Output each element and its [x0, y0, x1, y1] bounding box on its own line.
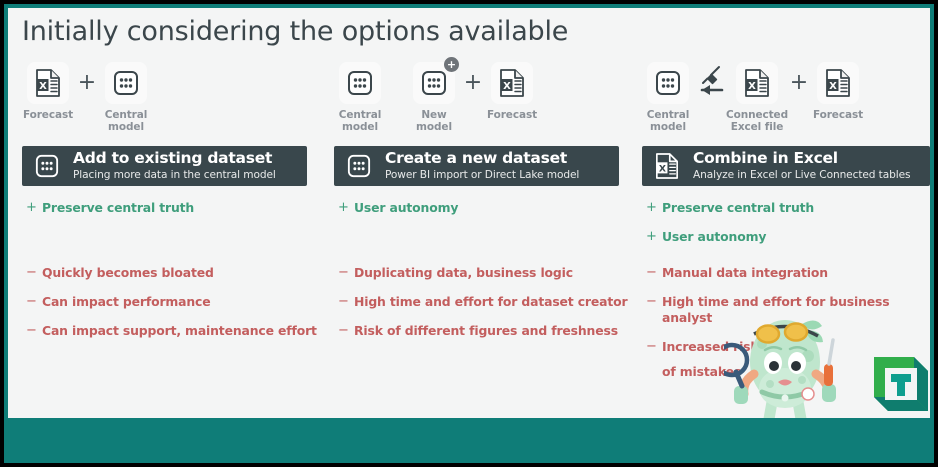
svg-text:X: X [659, 164, 666, 175]
icon-label-new-model: New model [416, 109, 452, 133]
arrow-left-icon [702, 85, 722, 95]
icon-label-forecast: Forecast [487, 109, 537, 121]
con-text: High time and effort for dataset creator [354, 294, 627, 310]
con-text: Duplicating data, business logic [354, 265, 573, 281]
list-item: + Preserve central truth [646, 200, 930, 216]
plus-sign-icon: + [338, 200, 354, 216]
con-text: Manual data integration [662, 265, 828, 281]
option-header-text: Add to existing dataset Placing more dat… [73, 150, 276, 182]
column-2-icon-row: Central model + New [334, 62, 538, 133]
icon-cell-connected-excel: X Connected Excel file [728, 62, 786, 133]
brand-logo [870, 353, 930, 418]
minus-sign-icon: − [26, 294, 42, 310]
column-3-icon-row: Central model [642, 62, 864, 133]
dataset-model-icon [339, 62, 381, 104]
excel-file-icon: X [27, 62, 69, 104]
option-title: Create a new dataset [385, 150, 579, 167]
option-header-create-new-dataset[interactable]: Create a new dataset Power BI import or … [334, 146, 619, 186]
minus-sign-icon: − [338, 294, 354, 310]
list-item: + User autonomy [646, 229, 930, 245]
dataset-model-icon [647, 62, 689, 104]
svg-text:X: X [503, 81, 511, 92]
icon-cell-new-model: + New model [408, 62, 460, 133]
list-item: − High time and effort for dataset creat… [338, 294, 633, 310]
svg-text:X: X [829, 81, 837, 92]
mascot-illustration [724, 310, 854, 418]
dataset-model-icon [105, 62, 147, 104]
icon-label-central-model: Central model [647, 109, 690, 133]
central-model-line1: Central [647, 109, 690, 121]
icon-label-central-model: Central model [339, 109, 382, 133]
icon-label-forecast: Forecast [23, 109, 73, 121]
minus-sign-icon: − [338, 323, 354, 339]
central-model-line1: Central [339, 109, 382, 121]
pro-text: Preserve central truth [42, 200, 194, 216]
pro-text: User autonomy [662, 229, 766, 245]
list-item: + Preserve central truth [26, 200, 316, 216]
icon-cell-forecast: X Forecast [22, 62, 74, 121]
cons-list-column-2: − Duplicating data, business logic − Hig… [338, 265, 633, 352]
minus-sign-icon: − [646, 294, 662, 310]
excel-file-icon: X [736, 62, 778, 104]
central-model-line2: model [342, 121, 378, 133]
icon-label-connected-excel: Connected Excel file [726, 109, 788, 133]
con-text: Risk of different figures and freshness [354, 323, 618, 339]
option-header-text: Create a new dataset Power BI import or … [385, 150, 579, 182]
option-subtitle: Placing more data in the central model [73, 169, 276, 182]
minus-sign-icon: − [26, 323, 42, 339]
connected-line1: Connected [726, 109, 788, 121]
con-text: Can impact performance [42, 294, 211, 310]
slide-frame: Initially considering the options availa… [0, 0, 938, 467]
svg-text:X: X [39, 81, 47, 92]
connected-line2: Excel file [731, 121, 783, 133]
page-title: Initially considering the options availa… [22, 16, 568, 47]
svg-text:X: X [748, 81, 756, 92]
pros-list-column-2: + User autonomy [338, 200, 628, 229]
new-model-line2: model [416, 121, 452, 133]
list-item: − Can impact support, maintenance effort [26, 323, 321, 339]
plus-sign-icon: + [646, 200, 662, 216]
excel-file-icon: X [817, 62, 859, 104]
option-header-combine-in-excel[interactable]: X Combine in Excel Analyze in Excel or L… [642, 146, 930, 186]
dataset-model-icon [32, 151, 62, 181]
icon-label-forecast: Forecast [813, 109, 863, 121]
option-title: Add to existing dataset [73, 150, 276, 167]
list-item: − Duplicating data, business logic [338, 265, 633, 281]
central-model-line2: model [108, 121, 144, 133]
list-item: − Can impact performance [26, 294, 321, 310]
list-item: + User autonomy [338, 200, 628, 216]
list-item: − Quickly becomes bloated [26, 265, 321, 281]
con-text: Quickly becomes bloated [42, 265, 214, 281]
plus-separator-icon: + [460, 62, 486, 104]
pro-text: Preserve central truth [662, 200, 814, 216]
column-1-icon-row: X Forecast + [22, 62, 152, 133]
option-title: Combine in Excel [693, 150, 910, 167]
icon-label-central-model: Central model [105, 109, 148, 133]
minus-sign-icon: − [338, 265, 354, 281]
plus-separator-icon: + [786, 62, 812, 104]
plus-separator-icon: + [74, 62, 100, 104]
icon-cell-central-model-2: Central model [334, 62, 386, 133]
live-connection-icon [694, 62, 728, 104]
list-item: − Manual data integration [646, 265, 930, 281]
dataset-model-icon [344, 151, 374, 181]
icon-cell-central-model: Central model [100, 62, 152, 133]
slide-canvas: Initially considering the options availa… [8, 8, 930, 418]
pros-list-column-3: + Preserve central truth + User autonomy [646, 200, 930, 258]
option-header-add-to-existing-dataset[interactable]: Add to existing dataset Placing more dat… [22, 146, 307, 186]
central-model-line2: model [650, 121, 686, 133]
option-subtitle: Power BI import or Direct Lake model [385, 169, 579, 182]
option-header-text: Combine in Excel Analyze in Excel or Liv… [693, 150, 910, 182]
cons-list-column-1: − Quickly becomes bloated − Can impact p… [26, 265, 321, 352]
minus-sign-icon: − [646, 339, 662, 355]
minus-sign-icon: − [26, 265, 42, 281]
icon-cell-forecast-3: X Forecast [812, 62, 864, 121]
icon-cell-forecast-2: X Forecast [486, 62, 538, 121]
add-badge-icon: + [444, 57, 459, 72]
dataset-model-new-icon: + [413, 62, 455, 104]
plus-sign-icon: + [646, 229, 662, 245]
excel-file-icon: X [491, 62, 533, 104]
excel-file-icon: X [652, 151, 682, 181]
central-model-line1: Central [105, 109, 148, 121]
new-model-line1: New [421, 109, 446, 121]
icon-cell-central-model-3: Central model [642, 62, 694, 133]
pros-list-column-1: + Preserve central truth [26, 200, 316, 229]
plus-sign-icon: + [26, 200, 42, 216]
list-item: − Risk of different figures and freshnes… [338, 323, 633, 339]
con-text: Can impact support, maintenance effort [42, 323, 317, 339]
option-subtitle: Analyze in Excel or Live Connected table… [693, 169, 910, 182]
pro-text: User autonomy [354, 200, 458, 216]
minus-sign-icon: − [646, 265, 662, 281]
